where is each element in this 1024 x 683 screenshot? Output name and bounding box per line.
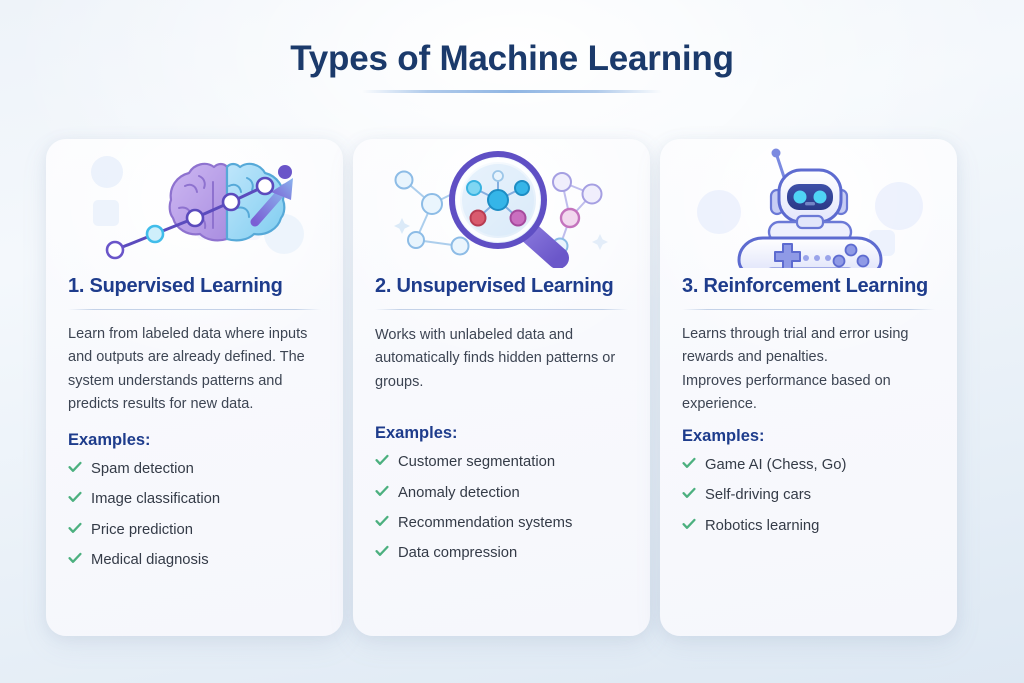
- list-item-label: Anomaly detection: [398, 483, 520, 504]
- magnifier-network-cluster-illustration: [353, 141, 650, 269]
- list-item: Self-driving cars: [682, 485, 935, 506]
- list-item-label: Customer segmentation: [398, 452, 555, 473]
- check-icon: [375, 544, 389, 558]
- card-description: Works with unlabeled data and automatica…: [375, 324, 628, 394]
- list-item: Customer segmentation: [375, 452, 628, 473]
- card-description: Learns through trial and error using rew…: [682, 323, 935, 417]
- list-item-label: Self-driving cars: [705, 485, 811, 506]
- check-icon: [68, 551, 82, 565]
- check-icon: [375, 514, 389, 528]
- examples-list: Customer segmentation Anomaly detection …: [375, 452, 628, 564]
- examples-label: Examples:: [68, 431, 321, 450]
- check-icon: [682, 456, 696, 470]
- list-item: Spam detection: [68, 459, 321, 480]
- list-item: Robotics learning: [682, 516, 935, 537]
- card-heading: 2. Unsupervised Learning: [375, 275, 628, 298]
- check-icon: [375, 453, 389, 467]
- card-heading: 3. Reinforcement Learning: [682, 275, 935, 298]
- list-item: Data compression: [375, 543, 628, 564]
- brain-growth-chart-illustration: [46, 141, 343, 269]
- card-rule: [682, 309, 935, 310]
- list-item: Anomaly detection: [375, 483, 628, 504]
- list-item-label: Data compression: [398, 543, 517, 564]
- check-icon: [68, 521, 82, 535]
- examples-list: Game AI (Chess, Go) Self-driving cars Ro…: [682, 455, 935, 537]
- check-icon: [375, 484, 389, 498]
- list-item: Game AI (Chess, Go): [682, 455, 935, 476]
- card-description: Learn from labeled data where inputs and…: [68, 323, 321, 417]
- list-item-label: Spam detection: [91, 459, 194, 480]
- card-reinforcement-learning[interactable]: 3. Reinforcement Learning Learns through…: [660, 139, 957, 636]
- examples-label: Examples:: [375, 424, 628, 443]
- cards-container: 1. Supervised Learning Learn from labele…: [46, 139, 978, 636]
- robot-game-controller-illustration: [660, 141, 957, 269]
- card-rule: [68, 309, 321, 310]
- card-heading: 1. Supervised Learning: [68, 275, 321, 298]
- list-item: Price prediction: [68, 520, 321, 541]
- check-icon: [68, 490, 82, 504]
- list-item-label: Game AI (Chess, Go): [705, 455, 846, 476]
- list-item-label: Robotics learning: [705, 516, 819, 537]
- list-item: Image classification: [68, 489, 321, 510]
- examples-label: Examples:: [682, 427, 935, 446]
- list-item-label: Price prediction: [91, 520, 193, 541]
- list-item-label: Recommendation systems: [398, 513, 572, 534]
- page-title: Types of Machine Learning: [0, 38, 1024, 80]
- title-divider: [362, 90, 662, 93]
- examples-list: Spam detection Image classification Pric…: [68, 459, 321, 571]
- list-item-label: Medical diagnosis: [91, 550, 209, 571]
- list-item-label: Image classification: [91, 489, 220, 510]
- check-icon: [682, 486, 696, 500]
- page-header: Types of Machine Learning: [0, 38, 1024, 93]
- card-supervised-learning[interactable]: 1. Supervised Learning Learn from labele…: [46, 139, 343, 636]
- check-icon: [682, 517, 696, 531]
- list-item: Medical diagnosis: [68, 550, 321, 571]
- card-unsupervised-learning[interactable]: 2. Unsupervised Learning Works with unla…: [353, 139, 650, 636]
- check-icon: [68, 460, 82, 474]
- card-rule: [375, 309, 628, 310]
- list-item: Recommendation systems: [375, 513, 628, 534]
